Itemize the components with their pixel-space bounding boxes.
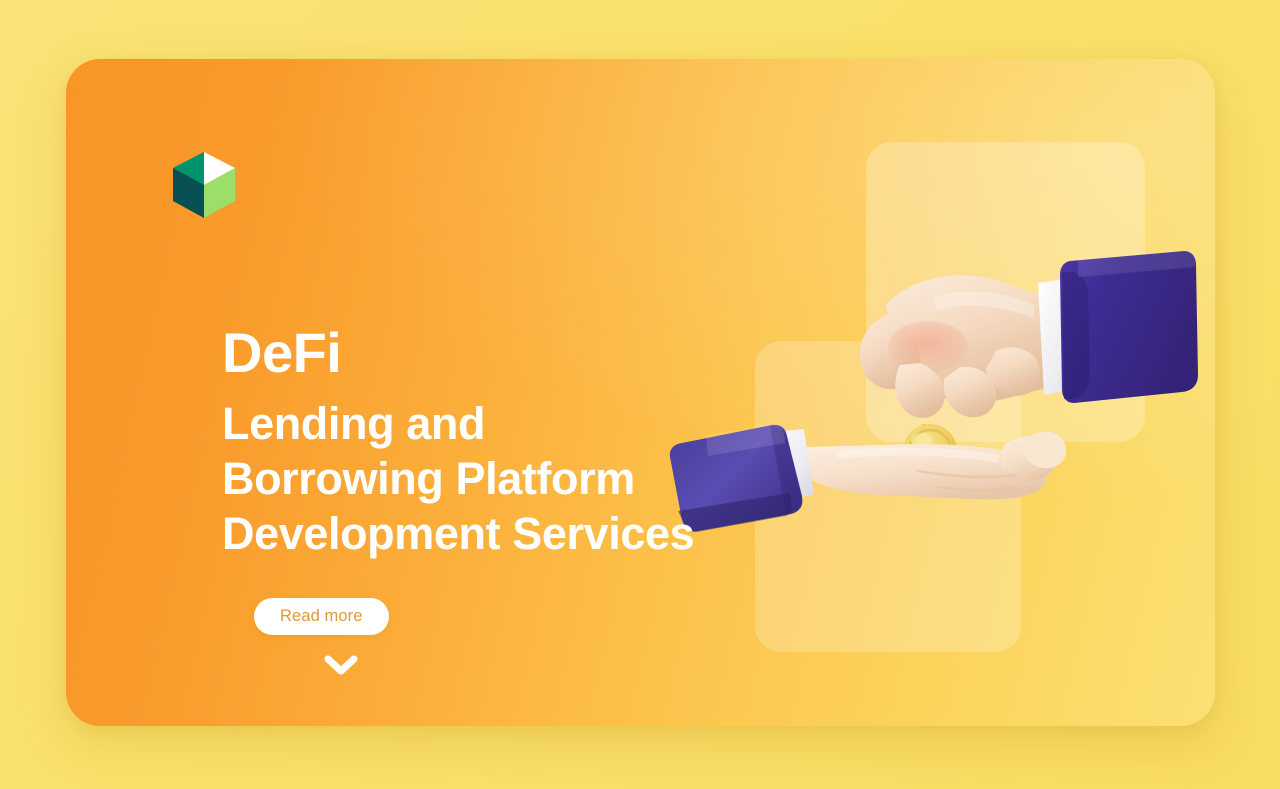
scroll-down-button[interactable]	[324, 654, 358, 678]
hero-headline: Lending and Borrowing Platform Developme…	[222, 396, 842, 561]
cube-hexagon-logo-icon	[169, 152, 239, 218]
read-more-button[interactable]: Read more	[254, 598, 389, 635]
headline-line-3: Development Services	[222, 506, 842, 561]
page-title: DeFi	[222, 324, 842, 382]
hero-copy: DeFi Lending and Borrowing Platform Deve…	[222, 324, 842, 561]
chevron-down-icon	[324, 654, 358, 678]
giving-hand	[860, 250, 1198, 418]
page-canvas: DeFi Lending and Borrowing Platform Deve…	[0, 0, 1280, 789]
hero-cta-group: Read more	[254, 598, 389, 635]
hero-card: DeFi Lending and Borrowing Platform Deve…	[66, 59, 1215, 726]
headline-line-2: Borrowing Platform	[222, 451, 842, 506]
brand-logo[interactable]	[169, 152, 239, 218]
headline-line-1: Lending and	[222, 396, 842, 451]
